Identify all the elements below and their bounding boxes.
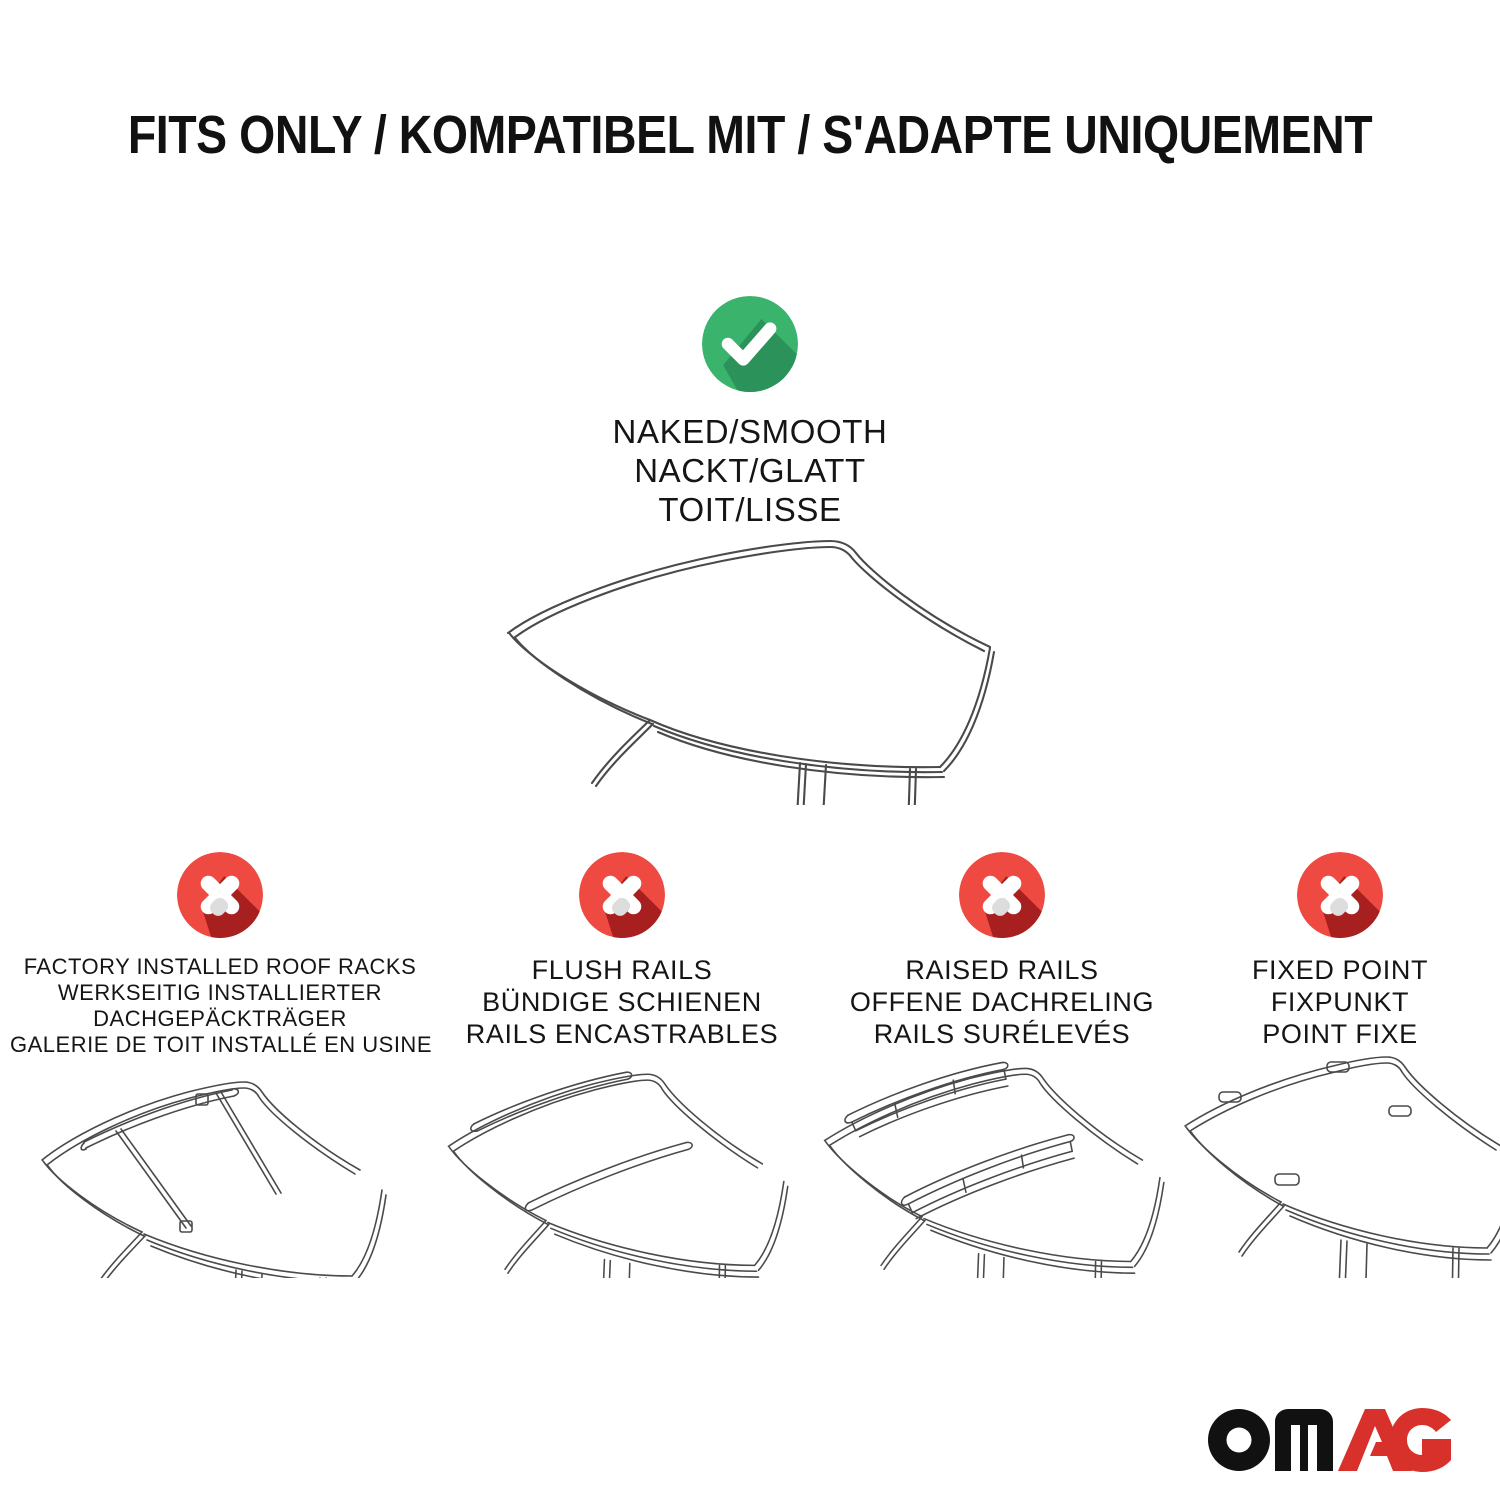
logo-letter-o <box>1208 1409 1270 1471</box>
label-line-2: BÜNDIGE SCHIENEN <box>437 986 807 1018</box>
label-line-3: POINT FIXE <box>1190 1018 1490 1050</box>
car-roof-factory-rack-illustration <box>20 1048 420 1278</box>
incompatible-item-fixed-point: FIXED POINT FIXPUNKT POINT FIXE <box>1190 852 1490 1050</box>
incompatible-label-raised-rails: RAISED RAILS OFFENE DACHRELING RAILS SUR… <box>817 954 1187 1050</box>
incompatible-item-flush-rails: FLUSH RAILS BÜNDIGE SCHIENEN RAILS ENCAS… <box>437 852 807 1050</box>
label-line-1: FIXED POINT <box>1190 954 1490 986</box>
incompatible-label-flush-rails: FLUSH RAILS BÜNDIGE SCHIENEN RAILS ENCAS… <box>437 954 807 1050</box>
label-line-3: RAILS SURÉLEVÉS <box>817 1018 1187 1050</box>
label-line-2: WERKSEITIG INSTALLIERTER <box>10 980 430 1006</box>
logo-letter-m <box>1275 1409 1333 1471</box>
label-line-1: RAISED RAILS <box>817 954 1187 986</box>
omac-logo <box>1207 1408 1452 1472</box>
compatible-label-line-1: NAKED/SMOOTH <box>510 412 990 451</box>
incompatible-label-factory-rack: FACTORY INSTALLED ROOF RACKS WERKSEITIG … <box>10 954 430 1058</box>
label-line-3: DACHGEPÄCKTRÄGER <box>10 1006 430 1032</box>
label-line-1: FACTORY INSTALLED ROOF RACKS <box>10 954 430 980</box>
car-roof-naked-smooth-illustration <box>470 505 1050 805</box>
x-circle-icon <box>579 852 665 938</box>
logo-letter-c <box>1390 1408 1451 1472</box>
label-line-2: FIXPUNKT <box>1190 986 1490 1018</box>
page-title: FITS ONLY / KOMPATIBEL MIT / S'ADAPTE UN… <box>105 104 1395 166</box>
compatible-block: NAKED/SMOOTH NACKT/GLATT TOIT/LISSE <box>510 296 990 529</box>
x-circle-icon <box>959 852 1045 938</box>
incompatible-label-fixed-point: FIXED POINT FIXPUNKT POINT FIXE <box>1190 954 1490 1050</box>
car-roof-flush-rails-illustration <box>427 1048 817 1278</box>
label-line-3: RAILS ENCASTRABLES <box>437 1018 807 1050</box>
incompatible-item-raised-rails: RAISED RAILS OFFENE DACHRELING RAILS SUR… <box>817 852 1187 1050</box>
fitment-compatibility-graphic: FITS ONLY / KOMPATIBEL MIT / S'ADAPTE UN… <box>0 0 1500 1500</box>
label-line-2: OFFENE DACHRELING <box>817 986 1187 1018</box>
incompatible-item-factory-rack: FACTORY INSTALLED ROOF RACKS WERKSEITIG … <box>10 852 430 1058</box>
label-line-1: FLUSH RAILS <box>437 954 807 986</box>
incompatible-row: FACTORY INSTALLED ROOF RACKS WERKSEITIG … <box>0 852 1500 1272</box>
compatible-label-line-2: NACKT/GLATT <box>510 451 990 490</box>
car-roof-raised-rails-illustration <box>807 1048 1197 1278</box>
check-circle-icon <box>702 296 798 392</box>
x-circle-icon <box>177 852 263 938</box>
car-roof-fixed-point-illustration <box>1175 1048 1500 1278</box>
x-circle-icon <box>1297 852 1383 938</box>
